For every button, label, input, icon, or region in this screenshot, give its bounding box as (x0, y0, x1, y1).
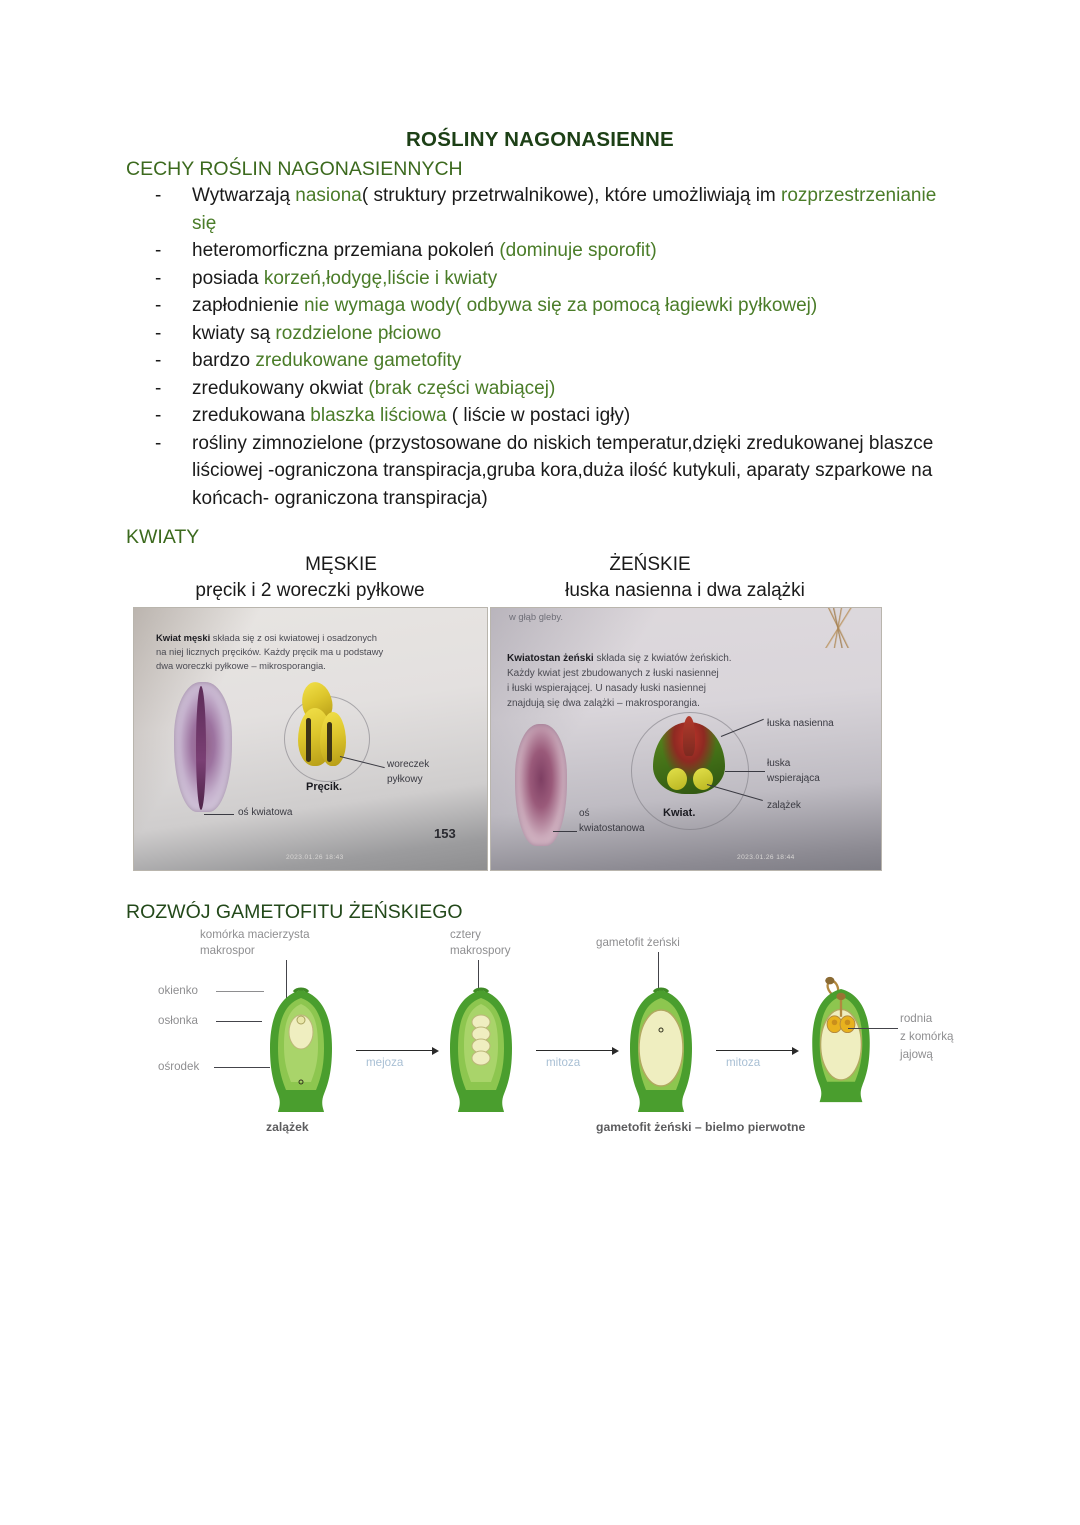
bullet-1-segment-3: ( struktury przetrwalnikowe), które umoż… (362, 185, 781, 206)
feature-bullet-9: -rośliny zimnozielone (przystosowane do … (126, 430, 956, 513)
bullet-marker: - (155, 237, 161, 265)
female-photo-text-line2: Każdy kwiat jest zbudowanych z łuski nas… (507, 668, 719, 681)
bullet-4-segment-1: zapłodnienie (192, 295, 304, 316)
feature-bullet-2: -heteromorficzna przemiana pokoleń (domi… (126, 237, 956, 265)
bullet-7-segment-1: zredukowany okwiat (192, 378, 368, 399)
integument-label: osłonka (158, 1014, 198, 1028)
bullet-8-segment-3: ( liście w postaci igły) (447, 405, 631, 426)
root-sketch-illustration (805, 608, 875, 648)
section-heading-cechy: CECHY ROŚLIN NAGONASIENNYCH (126, 158, 463, 181)
archegonium-leader-line (848, 1028, 898, 1029)
male-flower-photo: Kwiat męski składa się z osi kwiatowej i… (133, 607, 488, 871)
male-photo-text-line2: na niej licznych pręcików. Każdy pręcik … (156, 646, 383, 658)
section-heading-rozwoj: ROZWÓJ GAMETOFITU ŻEŃSKIEGO (126, 901, 463, 924)
integument-leader-line (216, 1021, 262, 1022)
feature-bullet-4: -zapłodnienie nie wymaga wody( odbywa si… (126, 292, 956, 320)
arrow-line-2 (536, 1050, 612, 1051)
inflorescence-axis-label-line1: oś (579, 808, 590, 821)
female-photo-line1-rest: składa się z kwiatów żeńskich. (594, 653, 732, 664)
ovule-stage-4-illustration (804, 976, 878, 1104)
features-list: -Wytwarzają nasiona( struktury przetrwal… (126, 182, 956, 512)
female-photo-top-fragment: w głąb gleby. (509, 611, 563, 623)
female-photo-text-line3: i łuski wspierającej. U nasady łuski nas… (507, 683, 706, 696)
arrow-head-2 (612, 1047, 619, 1055)
arrow-label-mitoza-1: mitoza (546, 1056, 580, 1069)
male-photo-text-line1: Kwiat męski składa się z osi kwiatowej i… (156, 632, 377, 644)
male-photo-timestamp: 2023.01.26 18:43 (286, 854, 344, 862)
bullet-marker: - (155, 430, 161, 458)
female-flower-subtitle: łuska nasienna i dwa zalążki (490, 580, 880, 602)
archegonium-label-line2: z komórką (900, 1030, 953, 1044)
bullet-3-segment-1: posiada (192, 268, 264, 289)
bullet-2-segment-1: heteromorficzna przemiana pokoleń (192, 240, 499, 261)
inflorescence-axis-leader-line (553, 831, 577, 832)
feature-bullet-3: -posiada korzeń,łodygę,liście i kwiaty (126, 265, 956, 293)
endosperm-caption: gametofit żeński – bielmo pierwotne (596, 1120, 805, 1134)
female-flower-title: ŻEŃSKIE (500, 554, 800, 576)
bullet-8-segment-1: zredukowana (192, 405, 310, 426)
bullet-marker: - (155, 347, 161, 375)
female-flower-caption: Kwiat. (663, 806, 695, 820)
arrow-head-3 (792, 1047, 799, 1055)
four-macrospores-label-line1: cztery (450, 928, 481, 942)
feature-bullet-1: -Wytwarzają nasiona( struktury przetrwal… (126, 182, 956, 237)
arrow-label-mitoza-2: mitoza (726, 1056, 760, 1069)
gametophyte-label: gametofit żeński (596, 936, 680, 950)
ovule-label: zalążek (767, 800, 801, 813)
feature-bullet-5: -kwiaty są rozdzielone płciowo (126, 320, 956, 348)
arrow-line-1 (356, 1050, 432, 1051)
document-page: ROŚLINY NAGONASIENNE CECHY ROŚLIN NAGONA… (0, 0, 1080, 1525)
female-cone-section-illustration (515, 724, 567, 846)
bullet-9-segment-1: rośliny zimnozielone (przystosowane do n… (192, 433, 933, 509)
bullet-6-segment-2: zredukowane gametofity (255, 350, 461, 371)
pollen-sac-slit-1 (306, 718, 311, 762)
seed-scale-label: łuska nasienna (767, 718, 834, 731)
ovule-stage-2-illustration (444, 986, 518, 1114)
female-photo-text-line4: znajdują się dwa zalążki – makrosporangi… (507, 698, 700, 711)
male-flower-title: MĘSKIE (196, 554, 486, 576)
female-flower-photo: w głąb gleby. Kwiatostan żeński składa s… (490, 607, 882, 871)
bullet-1-segment-1: Wytwarzają (192, 185, 295, 206)
bullet-marker: - (155, 375, 161, 403)
ovule-stage-3-illustration (624, 986, 698, 1114)
feature-bullet-7: -zredukowany okwiat (brak części wabiące… (126, 375, 956, 403)
bullet-5-segment-2: rozdzielone płciowo (275, 323, 441, 344)
ovule-illustration-2 (693, 768, 713, 790)
bract-scale-label-line1: łuska (767, 758, 790, 771)
female-photo-timestamp: 2023.01.26 18:44 (737, 854, 795, 862)
inflorescence-axis-label-line2: kwiatostanowa (579, 823, 645, 836)
bract-scale-label-line2: wspierająca (767, 773, 820, 786)
bullet-2-segment-2: (dominuje sporofit) (499, 240, 656, 261)
male-photo-text-line3: dwa woreczki pyłkowe – mikrosporangia. (156, 660, 326, 672)
ovule-illustration-1 (667, 768, 687, 790)
bullet-marker: - (155, 182, 161, 210)
male-photo-line1-rest: składa się z osi kwiatowej i osadzonych (210, 632, 377, 643)
pollen-sac-slit-2 (327, 722, 332, 762)
pollen-sac-label-line2: pyłkowy (387, 774, 423, 787)
arrow-line-3 (716, 1050, 792, 1051)
male-flower-subtitle: pręcik i 2 woreczki pyłkowe (130, 580, 490, 602)
bullet-3-segment-2: korzeń,łodygę,liście i kwiaty (264, 268, 497, 289)
ovule-stage-1-illustration (264, 986, 338, 1114)
nucellus-leader-line (214, 1067, 270, 1068)
micropyle-label: okienko (158, 984, 198, 998)
male-photo-bold-lead: Kwiat męski (156, 632, 210, 643)
pollen-sac-illustration-2 (320, 712, 346, 766)
arrow-label-mejoza: mejoza (366, 1056, 403, 1069)
bullet-6-segment-1: bardzo (192, 350, 255, 371)
micropyle-leader-line (216, 991, 264, 992)
pollen-sac-label-line1: woreczek (387, 759, 429, 772)
feature-bullet-8: -zredukowana blaszka liściowa ( liście w… (126, 402, 956, 430)
archegonium-label-line1: rodnia (900, 1012, 932, 1026)
ovule-caption: zalążek (266, 1120, 309, 1134)
bullet-4-segment-2: nie wymaga wody( odbywa się za pomocą ła… (304, 295, 817, 316)
feature-bullet-6: -bardzo zredukowane gametofity (126, 347, 956, 375)
macrospore-mother-cell-label-line1: komórka macierzysta (200, 928, 310, 942)
female-photo-text-line1: Kwiatostan żeński składa się z kwiatów ż… (507, 653, 732, 666)
bullet-marker: - (155, 402, 161, 430)
section-heading-kwiaty: KWIATY (126, 526, 199, 549)
book-page-number: 153 (434, 826, 456, 843)
bract-scale-leader-line (725, 771, 765, 772)
arrow-head-1 (432, 1047, 439, 1055)
seed-scale-tip-illustration (683, 716, 695, 756)
bullet-marker: - (155, 265, 161, 293)
male-cone-axis-illustration (196, 686, 206, 810)
bullet-1-segment-2: nasiona (295, 185, 362, 206)
bullet-8-segment-2: blaszka liściowa (310, 405, 446, 426)
page-title: ROŚLINY NAGONASIENNE (0, 128, 1080, 152)
flower-axis-leader-line (204, 814, 234, 815)
female-photo-bold-lead: Kwiatostan żeński (507, 653, 594, 664)
stamen-caption: Pręcik. (306, 780, 342, 794)
bullet-marker: - (155, 292, 161, 320)
flower-axis-label: oś kwiatowa (238, 807, 292, 820)
macrospore-mother-cell-label-line2: makrospor (200, 944, 255, 958)
four-macrospores-label-line2: makrospory (450, 944, 511, 958)
bullet-marker: - (155, 320, 161, 348)
gametophyte-development-diagram: komórka macierzysta makrospor okienko os… (126, 928, 954, 1154)
nucellus-label: ośrodek (158, 1060, 199, 1074)
bullet-5-segment-1: kwiaty są (192, 323, 275, 344)
archegonium-label-line3: jajową (900, 1048, 933, 1062)
bullet-7-segment-2: (brak części wabiącej) (368, 378, 555, 399)
